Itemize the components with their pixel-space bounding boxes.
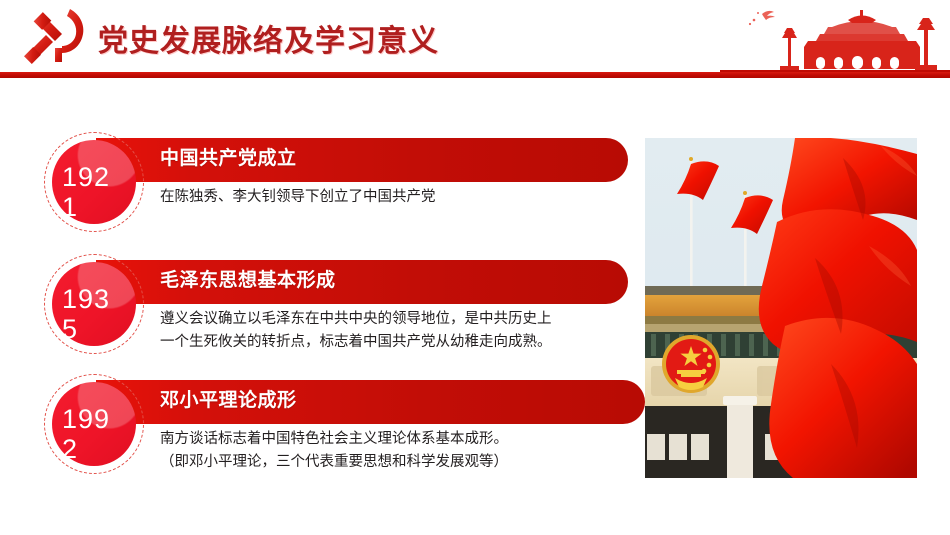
description-line: 遵义会议确立以毛泽东在中共中央的领导地位，是中共历史上 bbox=[160, 308, 636, 331]
timeline-item-description: 南方谈话标志着中国特色社会主义理论体系基本成形。 （即邓小平理论，三个代表重要思… bbox=[160, 428, 636, 474]
timeline-year-circle: 1992 bbox=[52, 382, 136, 466]
timeline-item-description: 遵义会议确立以毛泽东在中共中央的领导地位，是中共历史上 一个生死攸关的转折点，标… bbox=[160, 308, 636, 354]
timeline-list: 中国共产党成立 1921 在陈独秀、李大钊领导下创立了中国共产党 毛泽东思想基本… bbox=[0, 88, 640, 508]
timeline-item-title: 毛泽东思想基本形成 bbox=[160, 265, 336, 292]
timeline-year-label: 1992 bbox=[62, 404, 126, 464]
description-line: 一个生死攸关的转折点，标志着中国共产党从幼稚走向成熟。 bbox=[160, 331, 636, 354]
timeline-year-circle: 1935 bbox=[52, 262, 136, 346]
header-divider bbox=[0, 72, 950, 78]
timeline-item[interactable]: 毛泽东思想基本形成 1935 遵义会议确立以毛泽东在中共中央的领导地位，是中共历… bbox=[0, 252, 640, 372]
slide-header: 党史发展脉络及学习意义 bbox=[0, 0, 950, 80]
cpc-hammer-sickle-emblem-icon bbox=[18, 5, 94, 67]
timeline-item[interactable]: 中国共产党成立 1921 在陈独秀、李大钊领导下创立了中国共产党 bbox=[0, 130, 640, 250]
timeline-item-title: 邓小平理论成形 bbox=[160, 385, 297, 412]
description-line: （即邓小平理论，三个代表重要思想和科学发展观等） bbox=[160, 451, 636, 474]
great-hall-of-the-people-photo bbox=[645, 138, 917, 478]
timeline-item-title: 中国共产党成立 bbox=[160, 143, 297, 170]
timeline-year-circle: 1921 bbox=[52, 140, 136, 224]
timeline-year-label: 1921 bbox=[62, 162, 126, 222]
timeline-item-description: 在陈独秀、李大钊领导下创立了中国共产党 bbox=[160, 186, 636, 209]
slide: 党史发展脉络及学习意义 bbox=[0, 0, 950, 535]
page-title: 党史发展脉络及学习意义 bbox=[98, 16, 439, 60]
description-line: 南方谈话标志着中国特色社会主义理论体系基本成形。 bbox=[160, 428, 636, 451]
description-line: 在陈独秀、李大钊领导下创立了中国共产党 bbox=[160, 186, 636, 209]
timeline-item[interactable]: 邓小平理论成形 1992 南方谈话标志着中国特色社会主义理论体系基本成形。 （即… bbox=[0, 372, 640, 492]
timeline-year-label: 1935 bbox=[62, 284, 126, 344]
tiananmen-gate-icon bbox=[720, 0, 950, 74]
